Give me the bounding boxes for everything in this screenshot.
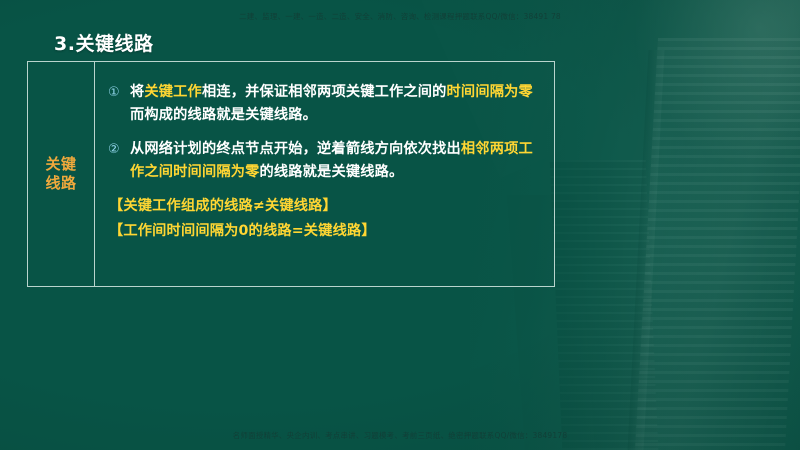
background-tower-right <box>635 38 800 450</box>
content-box-label-line-2: 线路 <box>45 174 76 193</box>
rule-segment: 的线路就是关键线路。 <box>260 164 404 180</box>
promo-banner-bottom: 名师面授精华、央企内训、考点串讲、习题模考、考前三页纸、绝密押题联系QQ/微信：… <box>0 430 800 441</box>
rule-marker-1: ① <box>108 81 130 103</box>
content-box-label: 关键 线路 <box>45 155 76 193</box>
content-box-body: ① 将关键工作相连，并保证相邻两项关键工作之间的时间间隔为零而构成的线路就是关键… <box>95 62 554 286</box>
promo-banner-top: 二建、监理、一建、一造、二造、安全、消防、咨询、检测课程押题联系QQ/微信：38… <box>0 11 800 22</box>
page-title: 3.关键线路 <box>54 29 153 56</box>
content-box-label-line-1: 关键 <box>45 155 76 174</box>
content-box-label-cell: 关键 线路 <box>28 62 95 286</box>
rule-text-2: 从网络计划的终点节点开始，逆着箭线方向依次找出相邻两项工作之间时间间隔为零的线路… <box>130 138 538 184</box>
background-tower-edge <box>628 50 665 450</box>
rule-segment-highlight: 时间间隔为零 <box>447 84 533 100</box>
rule-segment: 相连，并保证相邻两项关键工作之间的 <box>202 84 447 100</box>
rule-segment: 将 <box>130 84 144 100</box>
note-line-2: 【工作间时间间隔为0的线路=关键线路】 <box>109 220 538 243</box>
rule-segment-highlight: 关键工作 <box>144 84 202 100</box>
background-tower-mid <box>550 160 659 450</box>
rule-item: ① 将关键工作相连，并保证相邻两项关键工作之间的时间间隔为零而构成的线路就是关键… <box>108 81 538 127</box>
content-box: 关键 线路 ① 将关键工作相连，并保证相邻两项关键工作之间的时间间隔为零而构成的… <box>27 61 555 287</box>
note-line-1: 【关键工作组成的线路≠关键线路】 <box>109 195 538 218</box>
rule-marker-2: ② <box>108 138 130 160</box>
slide-canvas: 二建、监理、一建、一造、二造、安全、消防、咨询、检测课程押题联系QQ/微信：38… <box>0 0 800 450</box>
rule-segment: 从网络计划的终点节点开始，逆着箭线方向依次找出 <box>130 141 461 157</box>
rule-item: ② 从网络计划的终点节点开始，逆着箭线方向依次找出相邻两项工作之间时间间隔为零的… <box>108 138 538 184</box>
rule-text-1: 将关键工作相连，并保证相邻两项关键工作之间的时间间隔为零而构成的线路就是关键线路… <box>130 81 538 127</box>
rule-segment: 而构成的线路就是关键线路。 <box>130 107 317 123</box>
